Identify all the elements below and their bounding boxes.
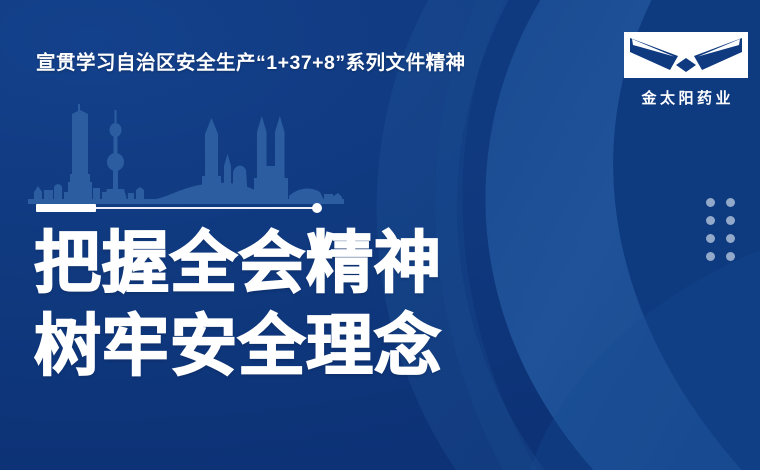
title-line-1: 把握全会精神: [34, 222, 442, 305]
dot-grid-decoration: [706, 198, 735, 270]
grid-dot: [706, 198, 715, 207]
company-logo: 金太阳药业: [620, 26, 752, 104]
title-line-2: 树牢安全理念: [34, 305, 442, 388]
grid-dot: [706, 234, 715, 243]
slider-knob-icon: [312, 203, 322, 213]
promo-banner: 宣贯学习自治区安全生产“1+37+8”系列文件精神 金太阳药业: [0, 0, 760, 470]
headline-text: 宣贯学习自治区安全生产“1+37+8”系列文件精神: [36, 46, 466, 75]
grid-dot: [726, 198, 735, 207]
grid-dot: [706, 216, 715, 225]
grid-dot: [726, 252, 735, 261]
grid-dot: [726, 216, 735, 225]
grid-dot: [726, 234, 735, 243]
main-title: 把握全会精神 树牢安全理念: [34, 222, 442, 388]
city-skyline-silhouette: [28, 104, 344, 204]
progress-rule: [36, 203, 322, 213]
skyline-icon: [28, 104, 344, 204]
logo-company-name: 金太阳药业: [620, 87, 752, 108]
rule-fill: [36, 204, 96, 212]
grid-dot: [706, 252, 715, 261]
sun-wings-logo-icon: [620, 26, 752, 84]
